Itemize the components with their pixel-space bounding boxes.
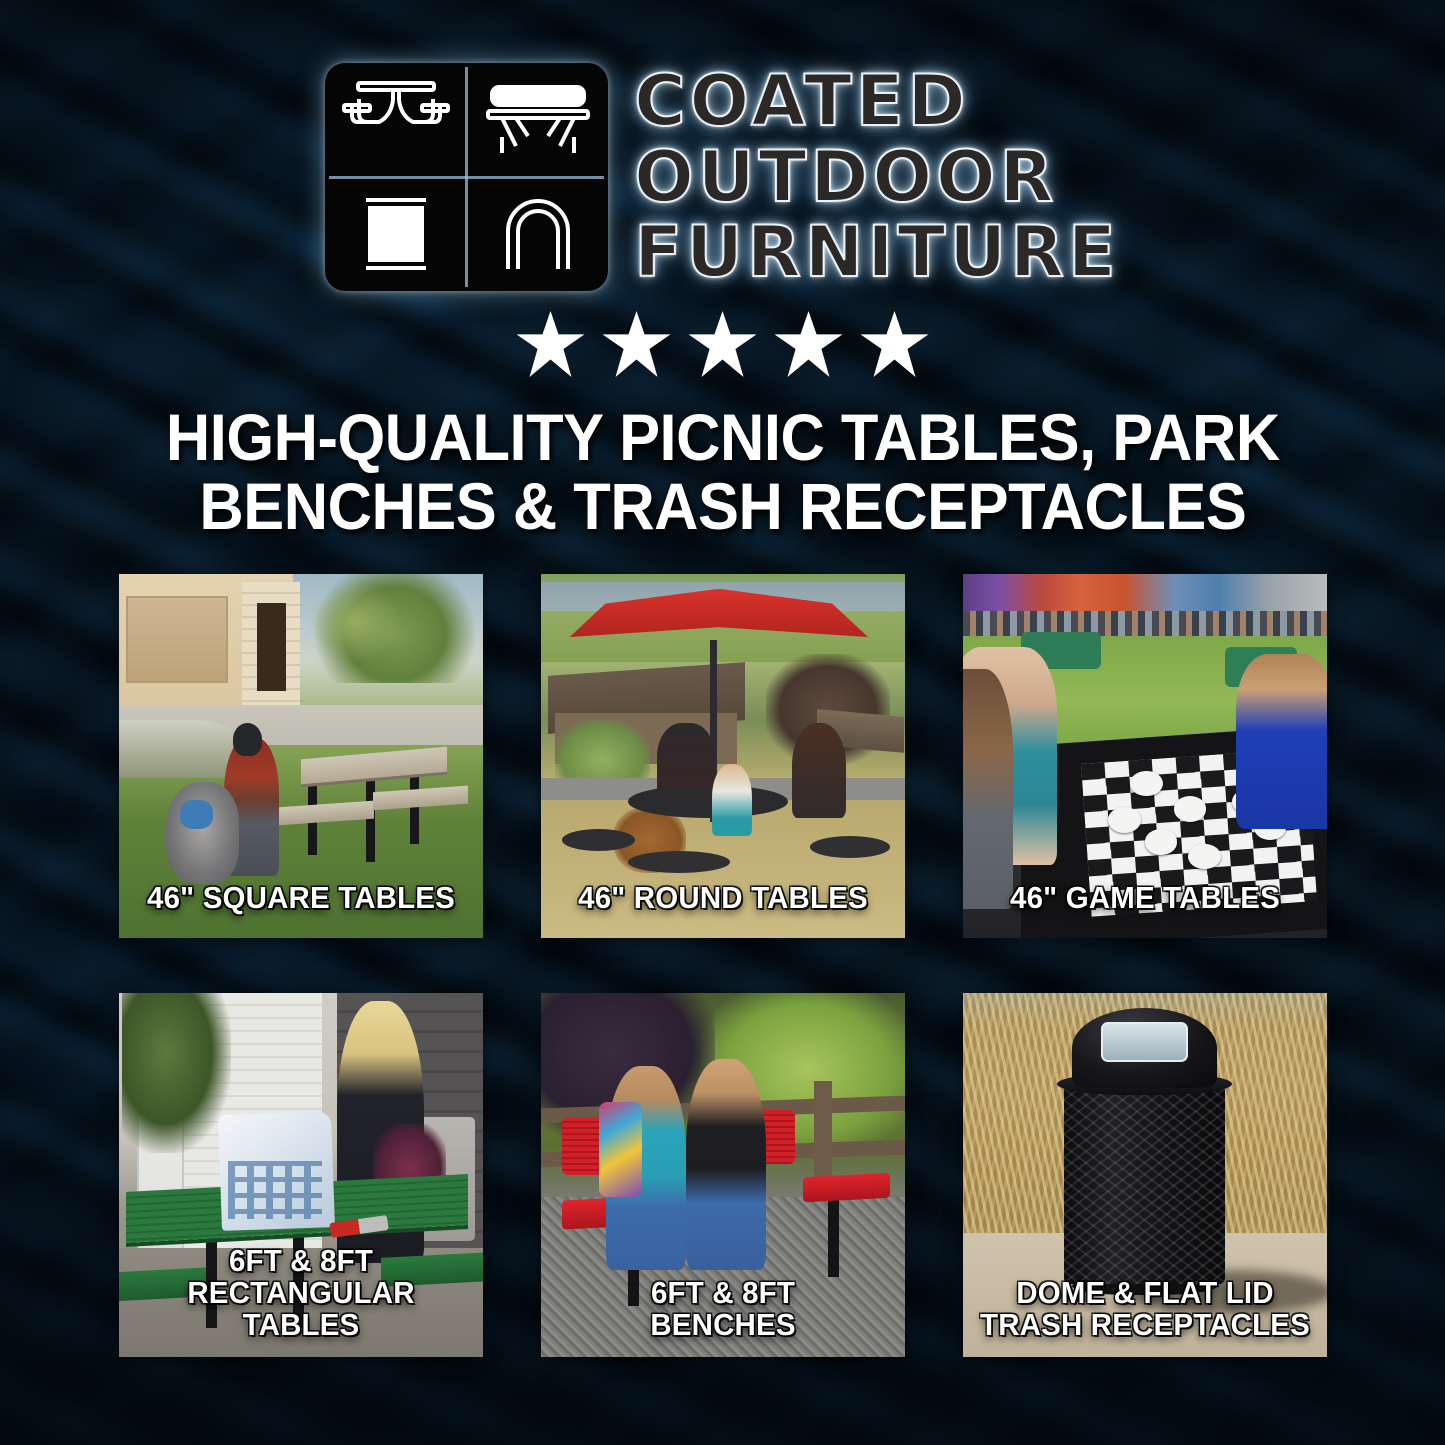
star-icon <box>861 311 929 377</box>
brand-name-line-1: COATED <box>634 67 969 136</box>
product-caption: 46" SQUARE TABLES <box>128 882 474 914</box>
product-caption: 46" ROUND TABLES <box>550 882 896 914</box>
bike-rack-icon <box>467 177 609 291</box>
brand-wordmark: COATED OUTDOOR FURNITURE <box>634 67 1120 287</box>
product-card-square-tables[interactable]: 46" SQUARE TABLES <box>119 574 483 938</box>
product-caption-line-1: DOME & FLAT LID <box>1016 1275 1274 1310</box>
product-caption-line-1: 6FT & 8FT <box>650 1275 794 1310</box>
product-caption-line-1: 46" ROUND TABLES <box>578 880 868 915</box>
logo-icon-grid <box>325 63 608 291</box>
star-rating <box>517 311 929 377</box>
product-card-round-tables[interactable]: 46" ROUND TABLES <box>541 574 905 938</box>
brand-name-line-2: OUTDOOR <box>634 143 1057 212</box>
product-caption-line-2: BENCHES <box>550 1309 896 1341</box>
brand-name-line-3: FURNITURE <box>634 218 1120 287</box>
product-caption: 46" GAME TABLES <box>972 882 1318 914</box>
star-icon <box>517 311 585 377</box>
product-caption-line-1: 46" GAME TABLES <box>1010 880 1280 915</box>
page-title: HIGH-QUALITY PICNIC TABLES, PARK BENCHES… <box>166 403 1280 540</box>
star-icon <box>603 311 671 377</box>
bench-table-icon <box>467 63 609 177</box>
star-icon <box>775 311 843 377</box>
product-caption-line-1: 46" SQUARE TABLES <box>147 880 455 915</box>
product-card-game-tables[interactable]: 46" GAME TABLES <box>963 574 1327 938</box>
product-caption-line-1: 6FT & 8FT <box>228 1243 372 1278</box>
brand-logo: COATED OUTDOOR FURNITURE <box>325 63 1120 291</box>
product-caption-line-2: RECTANGULAR TABLES <box>128 1277 474 1341</box>
picnic-table-icon <box>325 63 467 177</box>
trash-receptacle-icon <box>325 177 467 291</box>
headline-line-2: BENCHES & TRASH RECEPTACLES <box>166 472 1280 541</box>
product-caption-line-2: TRASH RECEPTACLES <box>972 1309 1318 1341</box>
product-caption: 6FT & 8FT RECTANGULAR TABLES <box>128 1245 474 1341</box>
product-card-benches[interactable]: 6FT & 8FT BENCHES <box>541 993 905 1357</box>
product-card-trash-receptacles[interactable]: DOME & FLAT LID TRASH RECEPTACLES <box>963 993 1327 1357</box>
product-caption: 6FT & 8FT BENCHES <box>550 1277 896 1341</box>
product-card-rectangular-tables[interactable]: 6FT & 8FT RECTANGULAR TABLES <box>119 993 483 1357</box>
product-caption: DOME & FLAT LID TRASH RECEPTACLES <box>972 1277 1318 1341</box>
star-icon <box>689 311 757 377</box>
headline-line-1: HIGH-QUALITY PICNIC TABLES, PARK <box>166 400 1280 474</box>
promo-poster: COATED OUTDOOR FURNITURE HIGH-QUALITY PI… <box>0 0 1445 1445</box>
product-grid: 46" SQUARE TABLES 46" ROUND TAB <box>119 574 1327 1357</box>
